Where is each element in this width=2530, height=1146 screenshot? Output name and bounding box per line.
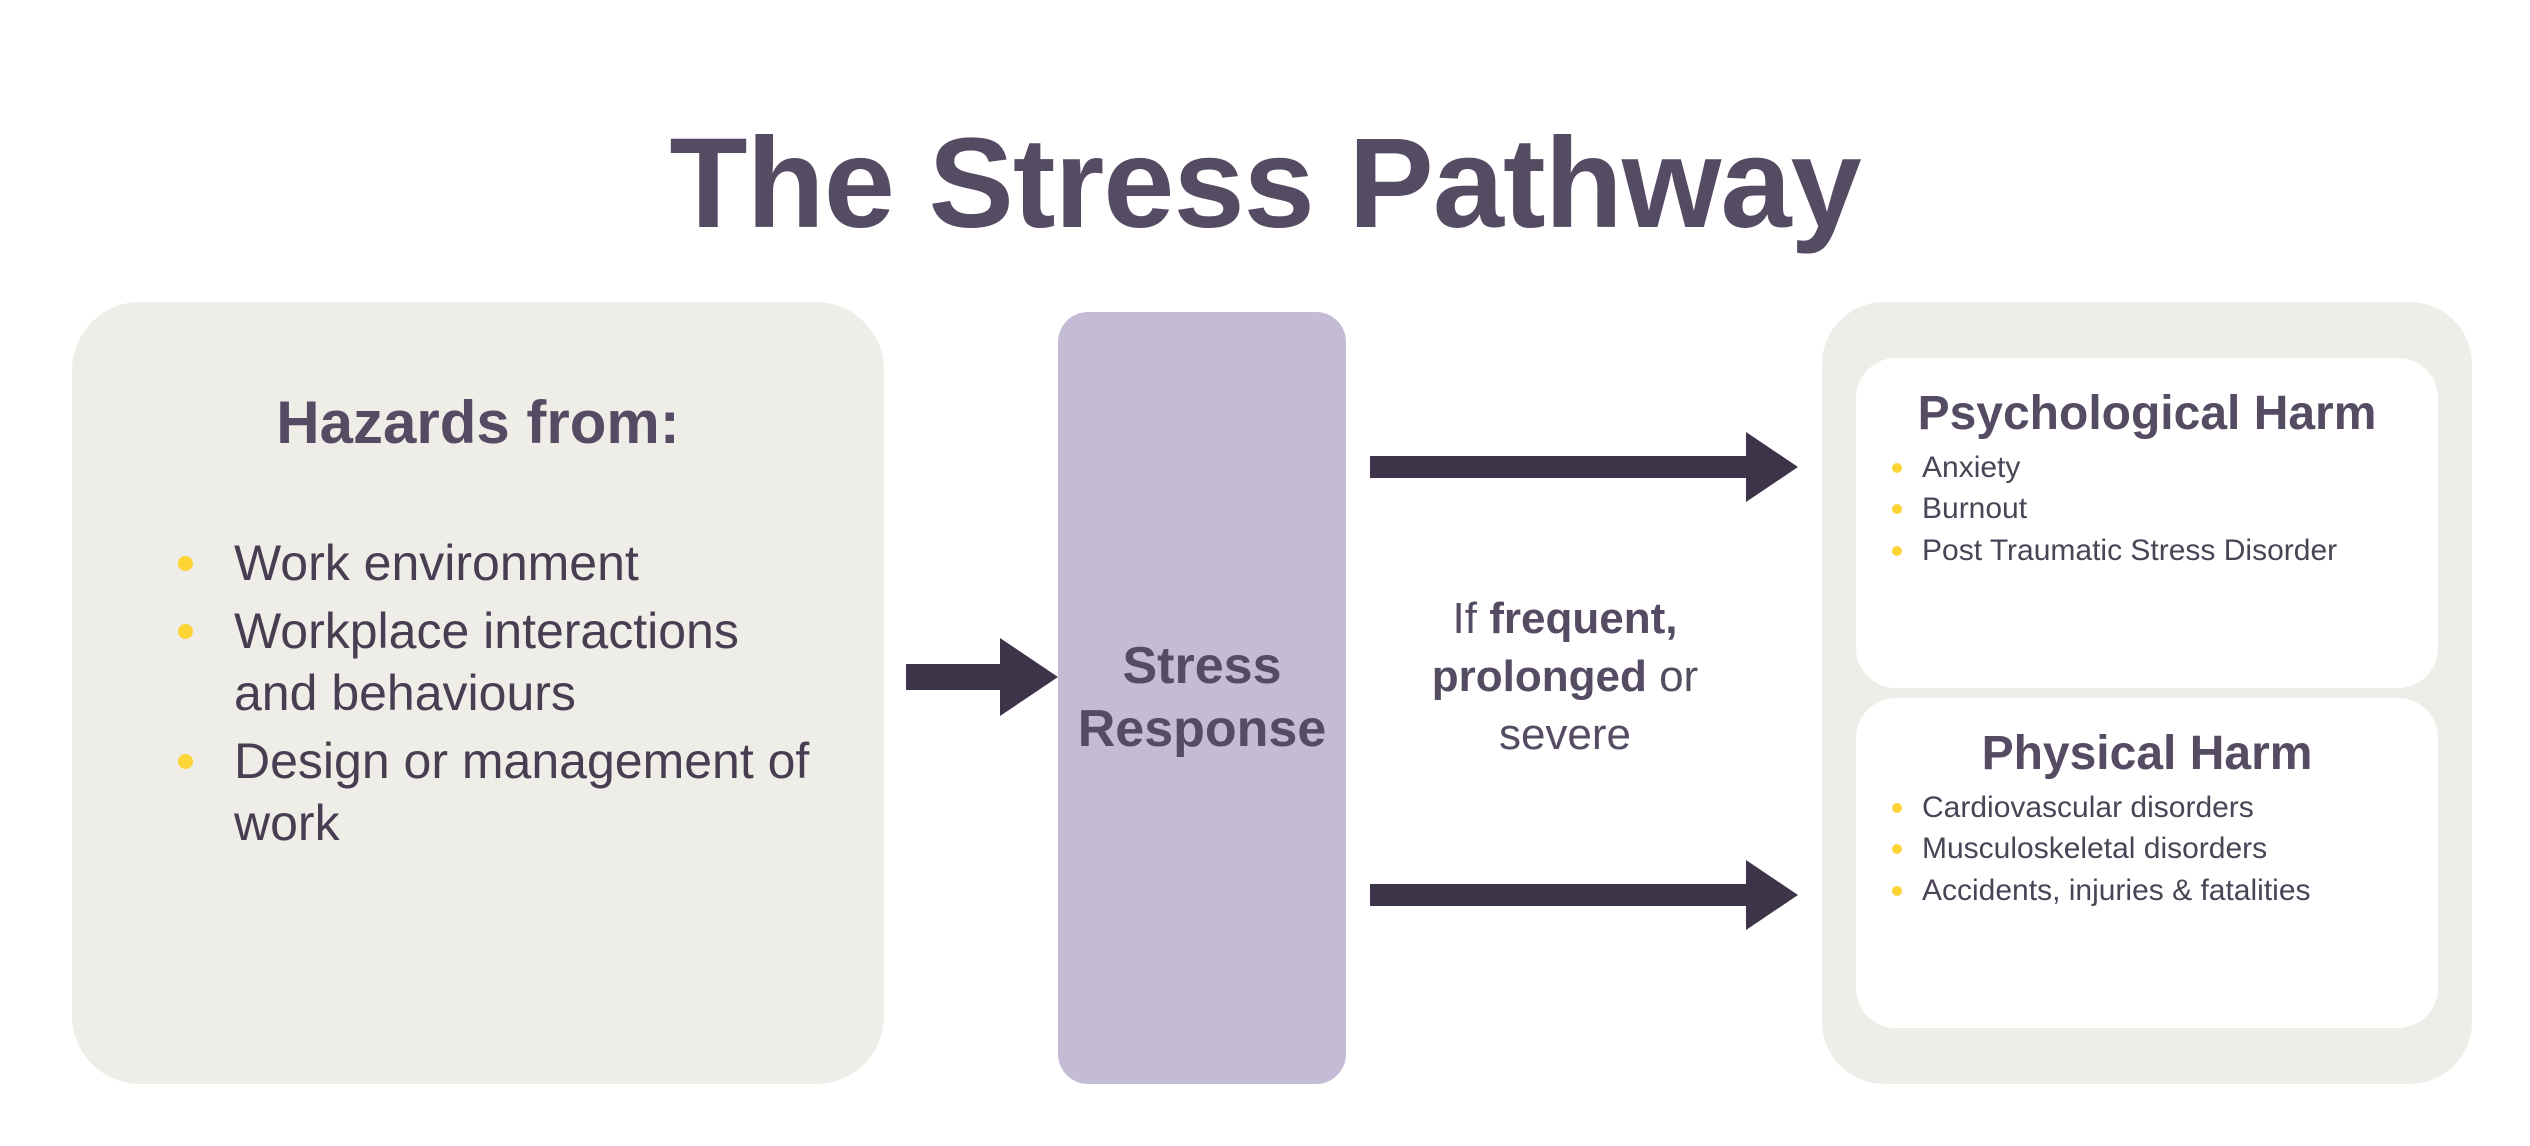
arrow-head: [1746, 860, 1798, 930]
list-item: Cardiovascular disorders: [1888, 787, 2416, 828]
bullet-dot-icon: [1892, 844, 1902, 854]
arrow-shaft: [1370, 456, 1756, 478]
hazards-heading: Hazards from:: [128, 390, 828, 456]
harms-panel: Psychological Harm Anxiety Burnout Post …: [1822, 302, 2472, 1084]
list-item: Workplace interactions and behaviours: [172, 600, 828, 724]
hazard-label: Design or management of work: [234, 733, 809, 851]
stress-response-box: Stress Response: [1058, 312, 1346, 1084]
bullet-dot-icon: [1892, 463, 1902, 473]
arrow-head: [1000, 638, 1058, 716]
condition-caption: If frequent, prolonged or severe: [1400, 590, 1730, 764]
psychological-harm-title: Psychological Harm: [1878, 388, 2416, 441]
list-item: Accidents, injuries & fatalities: [1888, 870, 2416, 911]
list-item: Post Traumatic Stress Disorder: [1888, 530, 2416, 571]
list-item: Musculoskeletal disorders: [1888, 828, 2416, 869]
arrow-shaft: [906, 664, 1010, 690]
list-item: Anxiety: [1888, 447, 2416, 488]
physical-harm-list: Cardiovascular disorders Musculoskeletal…: [1878, 787, 2416, 911]
condition-prefix: If: [1453, 594, 1490, 643]
list-item: Work environment: [172, 532, 828, 594]
psychological-harm-list: Anxiety Burnout Post Traumatic Stress Di…: [1878, 447, 2416, 571]
arrow-shaft: [1370, 884, 1756, 906]
arrow-head: [1746, 432, 1798, 502]
hazards-list: Work environment Workplace interactions …: [128, 532, 828, 854]
list-item: Burnout: [1888, 488, 2416, 529]
harm-label: Post Traumatic Stress Disorder: [1922, 534, 2337, 567]
list-item: Design or management of work: [172, 730, 828, 854]
hazard-label: Work environment: [234, 535, 639, 591]
psychological-harm-card: Psychological Harm Anxiety Burnout Post …: [1856, 358, 2438, 688]
hazards-panel: Hazards from: Work environment Workplace…: [72, 302, 884, 1084]
arrow-stress-to-physical-icon: [1370, 860, 1798, 930]
hazard-label: Workplace interactions and behaviours: [234, 603, 739, 721]
arrow-hazards-to-stress-icon: [906, 638, 1058, 716]
bullet-dot-icon: [178, 556, 193, 571]
stress-pathway-diagram: Hazards from: Work environment Workplace…: [0, 0, 2530, 1146]
harm-label: Musculoskeletal disorders: [1922, 832, 2267, 865]
harm-label: Burnout: [1922, 492, 2027, 525]
stress-response-label: Stress Response: [1078, 635, 1327, 762]
harm-label: Accidents, injuries & fatalities: [1922, 874, 2311, 907]
bullet-dot-icon: [1892, 546, 1902, 556]
harm-label: Cardiovascular disorders: [1922, 791, 2254, 824]
arrow-stress-to-psychological-icon: [1370, 432, 1798, 502]
bullet-dot-icon: [1892, 803, 1902, 813]
bullet-dot-icon: [178, 624, 193, 639]
physical-harm-title: Physical Harm: [1878, 728, 2416, 781]
bullet-dot-icon: [178, 754, 193, 769]
bullet-dot-icon: [1892, 504, 1902, 514]
harm-label: Anxiety: [1922, 451, 2020, 484]
physical-harm-card: Physical Harm Cardiovascular disorders M…: [1856, 698, 2438, 1028]
bullet-dot-icon: [1892, 886, 1902, 896]
